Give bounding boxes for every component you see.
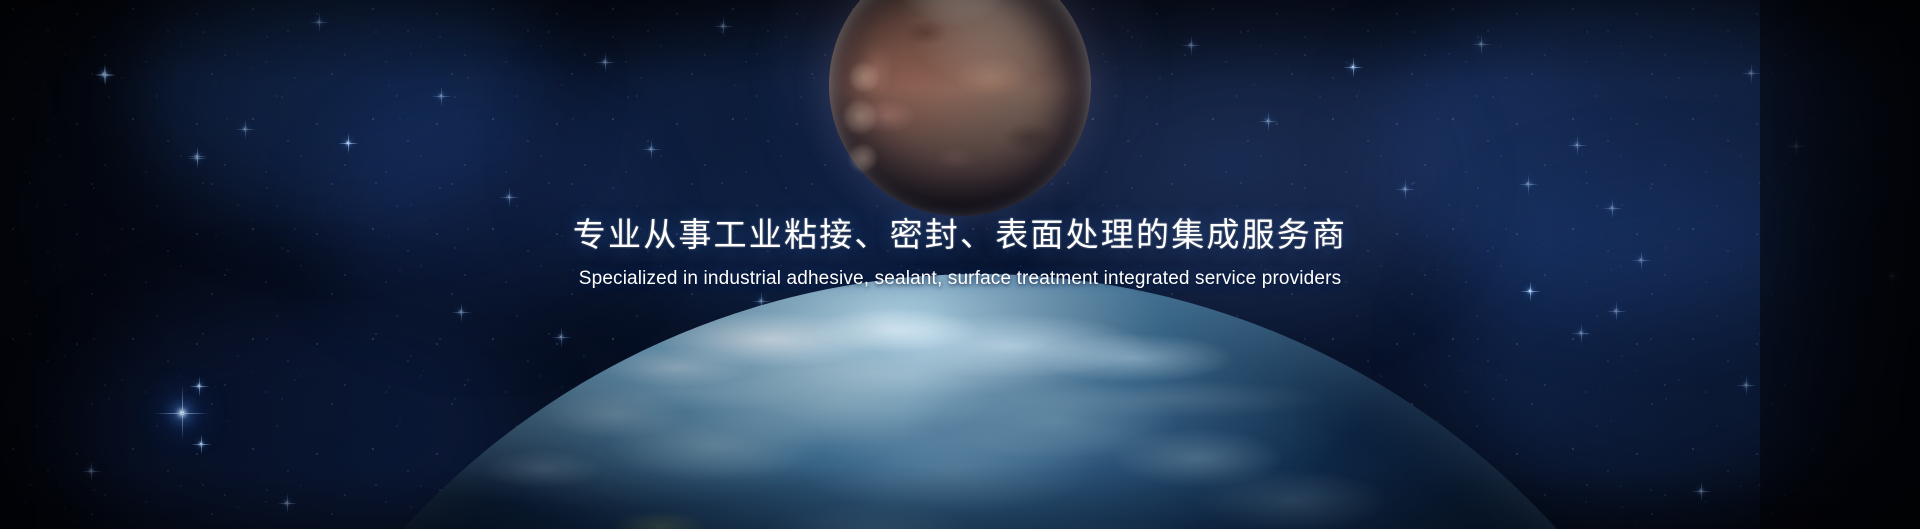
lens-flare xyxy=(849,144,877,172)
star xyxy=(440,95,442,97)
star xyxy=(1615,310,1617,312)
star xyxy=(508,196,510,198)
lens-flare xyxy=(849,62,879,92)
page-subtitle: Specialized in industrial adhesive, seal… xyxy=(0,267,1920,290)
star xyxy=(1352,66,1354,68)
star xyxy=(1190,44,1192,46)
star xyxy=(1527,183,1529,185)
hero-banner: 专业从事工业粘接、密封、表面处理的集成服务商 Specialized in in… xyxy=(0,0,1920,529)
star xyxy=(347,142,349,144)
star xyxy=(1700,490,1702,492)
hero-copy: 专业从事工业粘接、密封、表面处理的集成服务商 Specialized in in… xyxy=(0,214,1920,290)
star xyxy=(200,443,202,445)
star xyxy=(90,470,92,472)
star xyxy=(1267,120,1269,122)
star xyxy=(650,148,652,150)
star xyxy=(1529,290,1531,292)
star xyxy=(103,73,105,75)
star xyxy=(1580,332,1582,334)
star xyxy=(318,21,320,23)
star xyxy=(180,411,184,415)
star xyxy=(244,128,246,130)
star xyxy=(1750,72,1752,74)
star xyxy=(460,311,462,313)
star xyxy=(1480,43,1482,45)
star xyxy=(722,25,724,27)
star xyxy=(198,385,200,387)
moon-planet xyxy=(829,0,1091,216)
star xyxy=(1576,144,1578,146)
star xyxy=(1404,188,1406,190)
star xyxy=(1745,384,1747,386)
star xyxy=(604,61,606,63)
lens-flare xyxy=(843,100,877,134)
page-title: 专业从事工业粘接、密封、表面处理的集成服务商 xyxy=(0,214,1920,258)
star xyxy=(1611,207,1613,209)
star xyxy=(286,502,288,504)
star xyxy=(196,157,198,159)
